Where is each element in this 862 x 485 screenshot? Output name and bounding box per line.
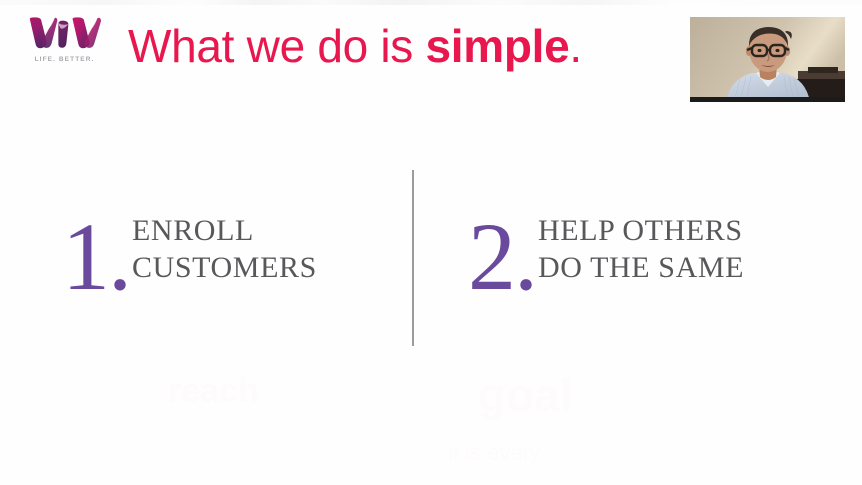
presentation-slide: LIFE. BETTER. What we do is simple. bbox=[0, 0, 862, 485]
point-2-line-1: HELP OTHERS bbox=[538, 212, 744, 249]
point-item-1: 1. ENROLL CUSTOMERS bbox=[62, 208, 317, 294]
ghost-artifact-3: it is every bbox=[448, 440, 541, 466]
brand-logo: LIFE. BETTER. bbox=[17, 16, 112, 63]
point-1-text: ENROLL CUSTOMERS bbox=[132, 212, 317, 286]
slide-title-emphasis: simple bbox=[425, 20, 569, 72]
ghost-artifact-1: reach bbox=[168, 372, 259, 411]
point-2-number: 2. bbox=[468, 214, 536, 300]
top-edge-artifact bbox=[0, 0, 862, 5]
presenter-webcam-panel[interactable] bbox=[690, 17, 845, 102]
ghost-artifact-2: goal bbox=[478, 368, 573, 422]
slide-title-trailing: . bbox=[569, 20, 581, 72]
point-2-line-2: DO THE SAME bbox=[538, 249, 744, 286]
slide-title-lead: What we do is bbox=[128, 20, 425, 72]
presenter-video-frame bbox=[690, 17, 845, 102]
slide-title: What we do is simple. bbox=[128, 19, 582, 73]
point-1-line-2: CUSTOMERS bbox=[132, 249, 317, 286]
point-item-2: 2. HELP OTHERS DO THE SAME bbox=[468, 208, 744, 294]
point-1-line-1: ENROLL bbox=[132, 212, 317, 249]
brand-tagline: LIFE. BETTER. bbox=[17, 56, 112, 63]
viv-wordmark-icon bbox=[27, 16, 103, 52]
point-1-number: 1. bbox=[62, 214, 130, 300]
points-container: 1. ENROLL CUSTOMERS 2. HELP OTHERS DO TH… bbox=[0, 168, 862, 348]
point-2-text: HELP OTHERS DO THE SAME bbox=[538, 212, 744, 286]
